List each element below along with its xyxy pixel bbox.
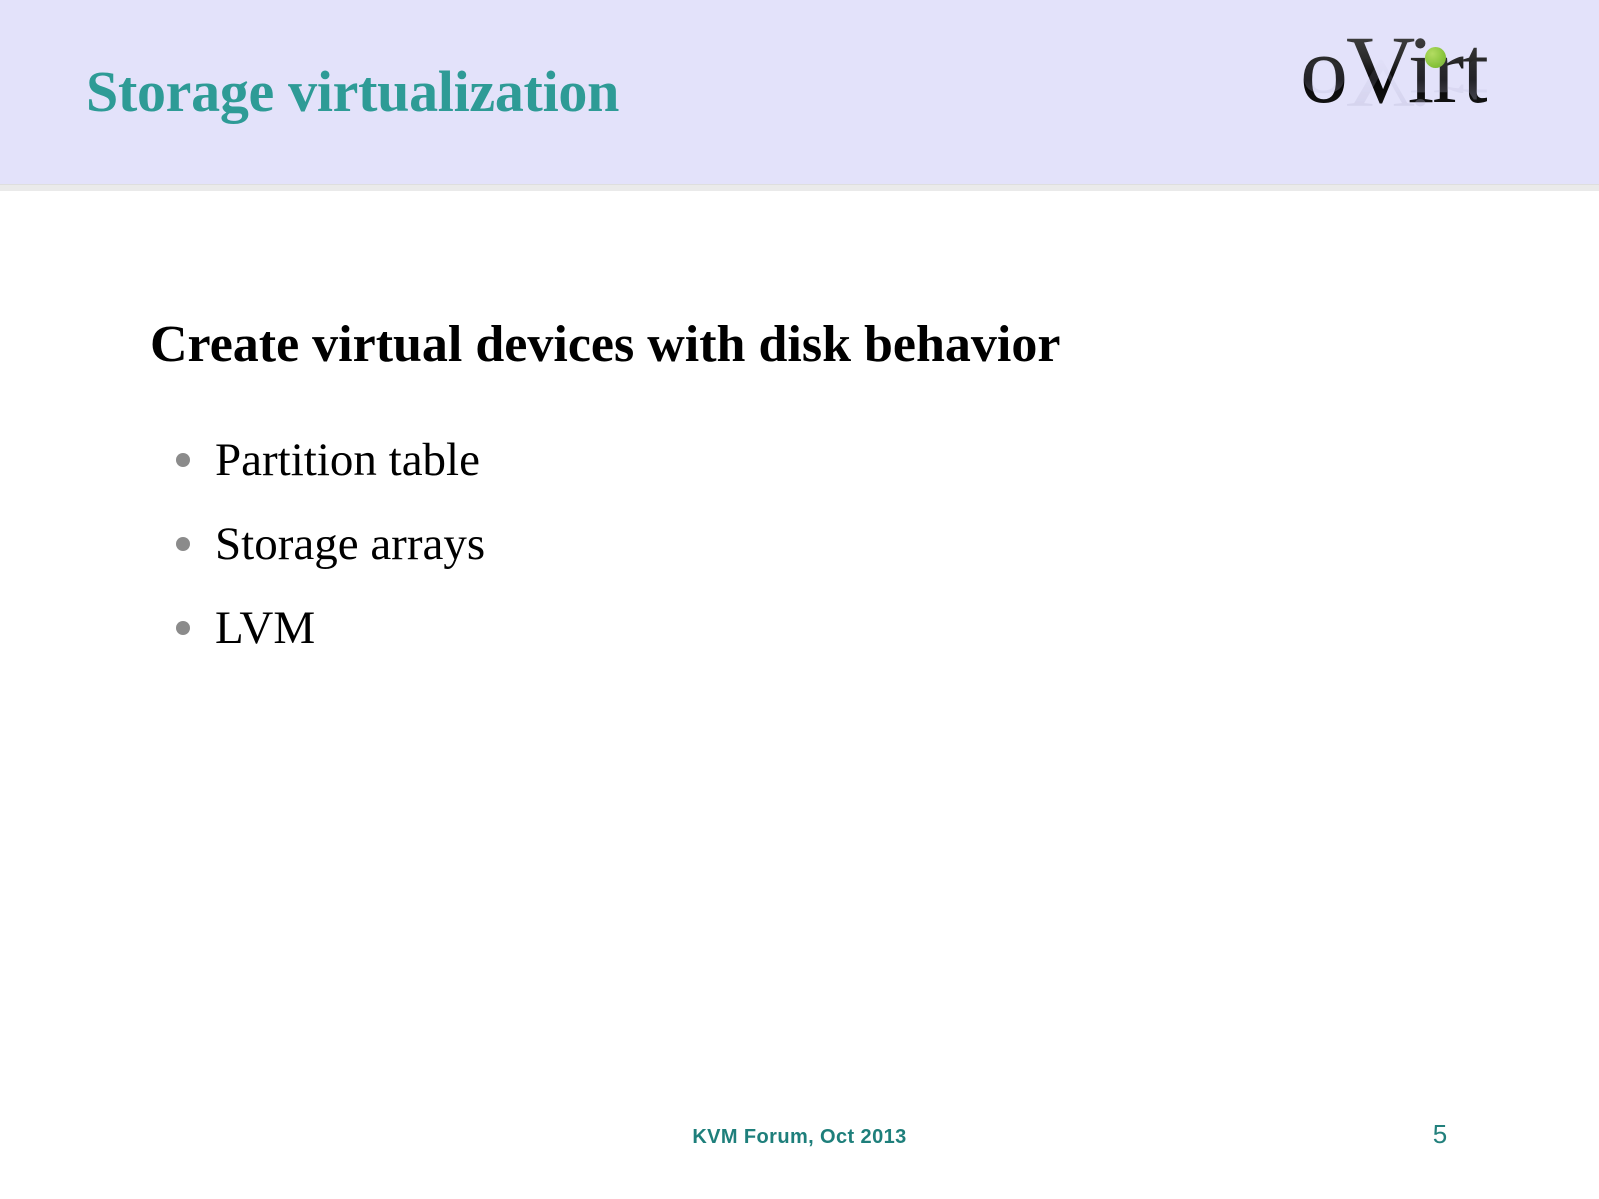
page-title: Storage virtualization [86,62,619,123]
slide-canvas: Storage virtualization oVirt oVirt Creat… [0,0,1599,1199]
slide-header-band: Storage virtualization oVirt oVirt [0,0,1599,184]
bullet-dot-icon [176,621,190,635]
bullet-dot-icon [176,537,190,551]
list-item: Partition table [176,418,485,502]
list-item: Storage arrays [176,502,485,586]
ovirt-green-dot-icon [1425,47,1446,68]
page-number: 5 [1420,1119,1460,1150]
list-item-label: LVM [215,605,315,652]
list-item-label: Storage arrays [215,521,485,568]
ovirt-logo: oVirt oVirt [1300,22,1540,182]
bullet-dot-icon [176,453,190,467]
list-item: LVM [176,586,485,670]
header-separator [0,184,1599,191]
content-heading: Create virtual devices with disk behavio… [150,316,1060,373]
ovirt-logo-wordmark: oVirt [1300,22,1487,118]
bullet-list: Partition table Storage arrays LVM [176,418,485,670]
list-item-label: Partition table [215,437,480,484]
footer-event-label: KVM Forum, Oct 2013 [0,1126,1599,1149]
